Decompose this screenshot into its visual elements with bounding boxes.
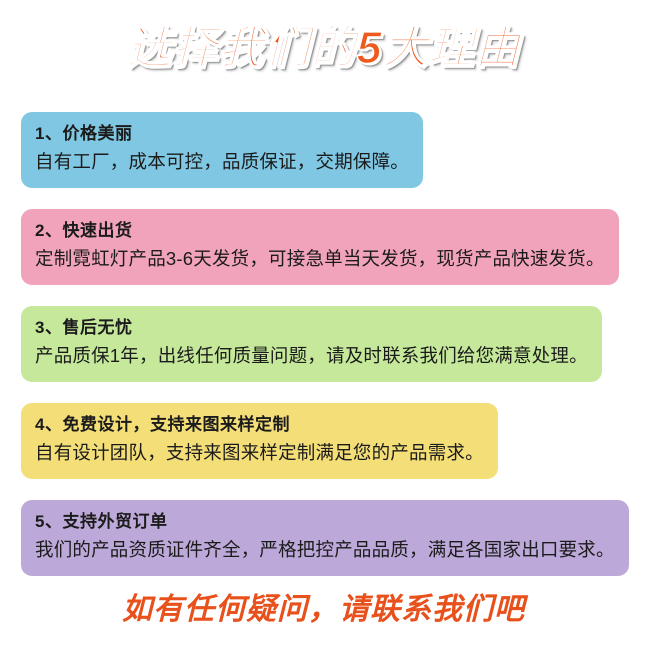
reason-desc-5: 我们的产品资质证件齐全，严格把控产品品质，满足各国家出口要求。: [35, 539, 615, 560]
reason-desc-row-2: 定制霓虹灯产品3-6天发货，可接急单当天发货，现货产品快速发货。: [35, 244, 605, 274]
reason-desc-row-1: 自有工厂，成本可控，品质保证，交期保障。: [35, 147, 409, 177]
reason-desc-4: 自有设计团队，支持来图来样定制满足您的产品需求。: [35, 442, 484, 463]
reason-desc-row-5: 我们的产品资质证件齐全，严格把控产品品质，满足各国家出口要求。: [35, 535, 615, 565]
reason-title-row-5: 5、支持外贸订单: [35, 509, 615, 535]
footer-container: 如有任何疑问，请联系我们吧: [0, 588, 647, 632]
reason-title-4: 4、免费设计，支持来图来样定制: [35, 415, 290, 434]
reason-desc-2: 定制霓虹灯产品3-6天发货，可接急单当天发货，现货产品快速发货。: [35, 248, 605, 269]
reason-title-3: 3、售后无忧: [35, 318, 132, 337]
reason-card-4: 4、免费设计，支持来图来样定制 自有设计团队，支持来图来样定制满足您的产品需求。: [21, 403, 498, 479]
reason-title-2: 2、快速出货: [35, 221, 132, 240]
promo-poster: 选择我们的5大理由 1、价格美丽 自有工厂，成本可控，品质保证，交期保障。 2、…: [0, 0, 647, 647]
reason-title-1: 1、价格美丽: [35, 124, 132, 143]
page-title-container: 选择我们的5大理由: [0, 18, 647, 78]
reason-desc-3: 产品质保1年，出线任何质量问题，请及时联系我们给您满意处理。: [35, 345, 588, 366]
page-title: 选择我们的5大理由: [126, 18, 520, 78]
reason-title-row-1: 1、价格美丽: [35, 121, 409, 147]
reasons-list: 1、价格美丽 自有工厂，成本可控，品质保证，交期保障。 2、快速出货 定制霓虹灯…: [21, 112, 631, 597]
reason-desc-row-3: 产品质保1年，出线任何质量问题，请及时联系我们给您满意处理。: [35, 341, 588, 371]
footer-cta-text: 如有任何疑问，请联系我们吧: [122, 588, 525, 632]
reason-card-2: 2、快速出货 定制霓虹灯产品3-6天发货，可接急单当天发货，现货产品快速发货。: [21, 209, 619, 285]
reason-card-5: 5、支持外贸订单 我们的产品资质证件齐全，严格把控产品品质，满足各国家出口要求。: [21, 500, 629, 576]
reason-card-3: 3、售后无忧 产品质保1年，出线任何质量问题，请及时联系我们给您满意处理。: [21, 306, 602, 382]
reason-card-1: 1、价格美丽 自有工厂，成本可控，品质保证，交期保障。: [21, 112, 423, 188]
reason-title-5: 5、支持外贸订单: [35, 512, 167, 531]
reason-title-row-3: 3、售后无忧: [35, 315, 588, 341]
reason-desc-row-4: 自有设计团队，支持来图来样定制满足您的产品需求。: [35, 438, 484, 468]
reason-title-row-2: 2、快速出货: [35, 218, 605, 244]
reason-title-row-4: 4、免费设计，支持来图来样定制: [35, 412, 484, 438]
reason-desc-1: 自有工厂，成本可控，品质保证，交期保障。: [35, 151, 409, 172]
